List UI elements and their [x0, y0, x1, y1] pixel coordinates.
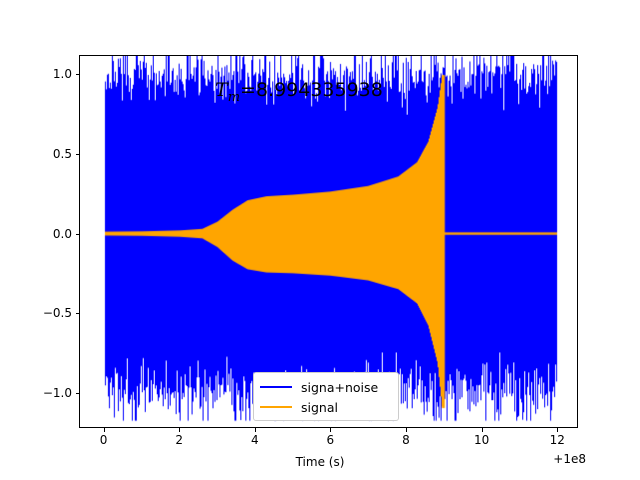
annotation-subscript: m: [228, 90, 240, 105]
y-tick-mark: [76, 393, 80, 394]
annotation-value: 8.994335938: [256, 79, 383, 101]
x-tick-mark: [104, 428, 105, 432]
merger-time-annotation: Tm=8.994335938: [215, 79, 383, 105]
x-tick-label: 12: [527, 433, 587, 447]
x-tick-mark: [255, 428, 256, 432]
y-tick-mark: [76, 313, 80, 314]
x-tick-label: 4: [225, 433, 285, 447]
y-tick-label: −1.0: [25, 387, 72, 399]
y-tick-mark: [76, 234, 80, 235]
legend-label-signal-noise: signa+noise: [301, 380, 378, 395]
y-tick-mark: [76, 74, 80, 75]
legend-color-swatch-signal-noise: [260, 386, 292, 388]
y-tick-label: −0.5: [25, 307, 72, 319]
x-axis-offset-label: +1e8: [520, 452, 586, 466]
x-tick-label: 10: [452, 433, 512, 447]
x-tick-label: 8: [376, 433, 436, 447]
y-tick-label: 0.0: [25, 228, 72, 240]
legend-color-swatch-signal: [260, 406, 292, 408]
y-tick-label: 1.0: [25, 68, 72, 80]
x-tick-mark: [482, 428, 483, 432]
annotation-symbol: T: [215, 79, 228, 101]
x-tick-mark: [406, 428, 407, 432]
x-tick-mark: [557, 428, 558, 432]
x-tick-mark: [330, 428, 331, 432]
figure-canvas: 0246810121.00.50.0−0.5−1.0 Tm=8.99433593…: [0, 0, 640, 480]
chart-legend[interactable]: signa+noise signal: [253, 372, 399, 421]
legend-item-signal-noise: signa+noise: [260, 377, 392, 397]
x-tick-label: 0: [74, 433, 134, 447]
legend-label-signal: signal: [301, 400, 338, 415]
y-tick-mark: [76, 154, 80, 155]
x-tick-label: 2: [149, 433, 209, 447]
x-tick-mark: [179, 428, 180, 432]
annotation-equals: =: [240, 79, 256, 101]
x-tick-label: 6: [300, 433, 360, 447]
y-tick-label: 0.5: [25, 148, 72, 160]
legend-item-signal: signal: [260, 397, 392, 417]
